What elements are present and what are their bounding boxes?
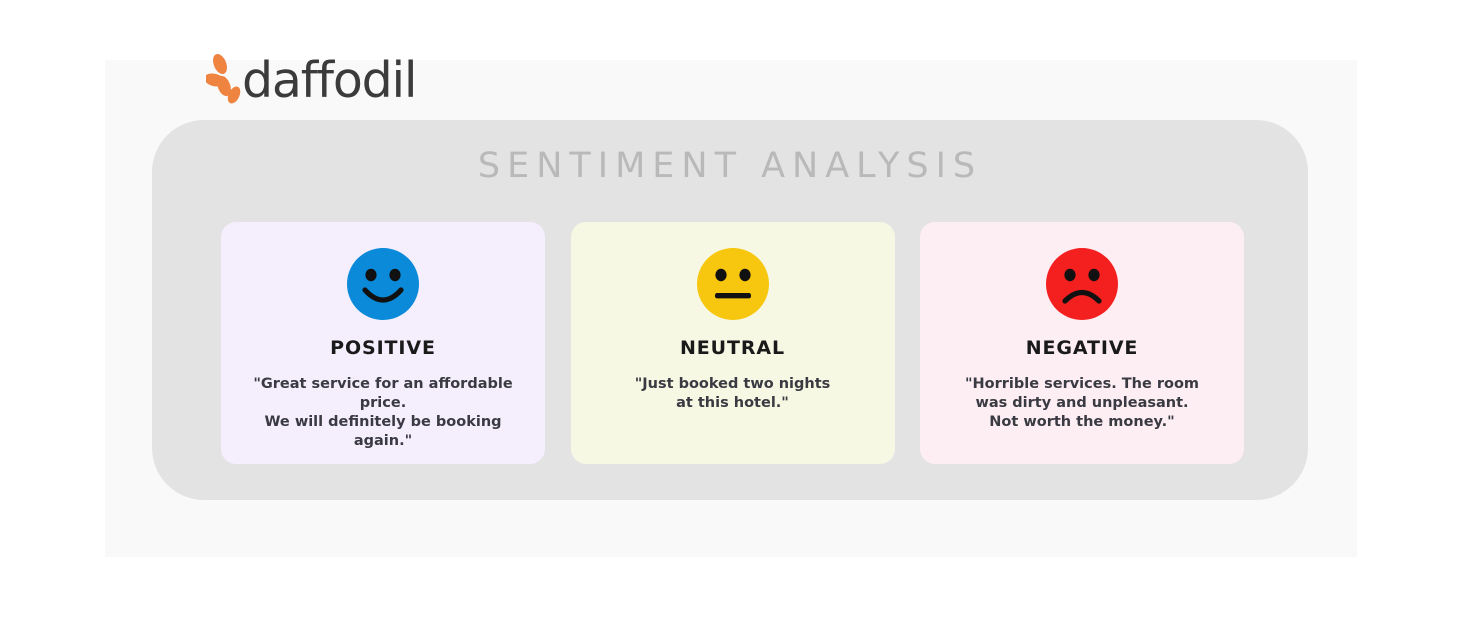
smiley-face-happy-icon — [346, 247, 420, 321]
sentiment-card-list: POSITIVE "Great service for an affordabl… — [221, 222, 1244, 464]
sentiment-label: POSITIVE — [330, 337, 436, 359]
sentiment-quote: "Horrible services. The room was dirty a… — [946, 375, 1218, 432]
sentiment-card-negative: NEGATIVE "Horrible services. The room wa… — [920, 222, 1244, 464]
daffodil-flower-icon — [206, 53, 248, 105]
sentiment-quote: "Just booked two nights at this hotel." — [597, 375, 869, 413]
sentiment-panel: SENTIMENT ANALYSIS POSITIVE "Great servi… — [152, 120, 1308, 500]
sentiment-card-positive: POSITIVE "Great service for an affordabl… — [221, 222, 545, 464]
sentiment-analysis-graphic: daffodil SENTIMENT ANALYSIS POSITIVE "Gr… — [0, 0, 1459, 625]
smiley-face-sad-icon — [1045, 247, 1119, 321]
sentiment-label: NEGATIVE — [1026, 337, 1139, 359]
brand-logo: daffodil — [206, 48, 416, 110]
page-title: SENTIMENT ANALYSIS — [152, 146, 1308, 186]
smiley-face-neutral-icon — [696, 247, 770, 321]
sentiment-card-neutral: NEUTRAL "Just booked two nights at this … — [571, 222, 895, 464]
brand-wordmark: daffodil — [242, 56, 416, 105]
sentiment-label: NEUTRAL — [680, 337, 785, 359]
sentiment-quote: "Great service for an affordable price. … — [247, 375, 519, 451]
